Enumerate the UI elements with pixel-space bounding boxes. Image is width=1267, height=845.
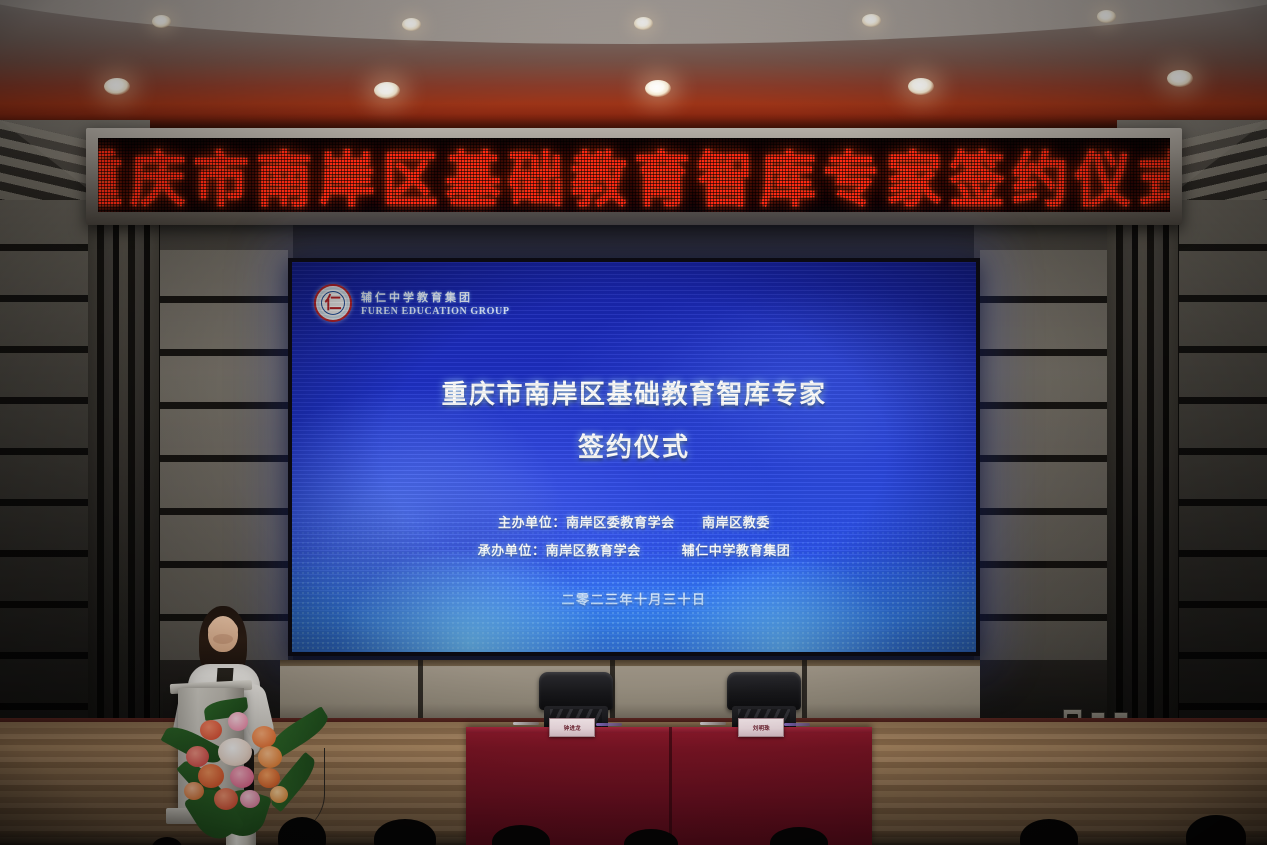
ceiling <box>0 0 1267 148</box>
nameplate-text: 钟进龙 <box>563 723 580 731</box>
under-screen-panel-band <box>280 660 980 722</box>
ceiling-downlight <box>634 17 653 30</box>
table-microphone <box>596 723 622 726</box>
presentation-slide: 仁 辅仁中学教育集团 FUREN EDUCATION GROUP 重庆市南岸区基… <box>292 262 976 652</box>
table-microphone <box>700 722 726 725</box>
speaker-face-shadow <box>213 634 233 644</box>
bouquet-flower <box>198 764 224 788</box>
slide-organizers: 主办单位：南岸区委教育学会 南岸区教委 承办单位：南岸区教育学会 辅仁中学教育集… <box>292 512 976 559</box>
slide-organizer-line: 承办单位：南岸区教育学会 辅仁中学教育集团 <box>478 540 791 559</box>
ceiling-downlight <box>374 82 400 99</box>
table-microphone <box>784 723 810 726</box>
led-banner-text: 重庆市南岸区基础教育智库专家签约仪式 <box>98 138 1170 212</box>
ceiling-downlight <box>1097 10 1116 23</box>
logo-name-cn: 辅仁中学教育集团 <box>361 289 510 305</box>
auditorium-scene: 重庆市南岸区基础教育智库专家签约仪式 仁 辅仁中学教育集团 FUREN EDUC… <box>0 0 1267 845</box>
ceiling-downlight <box>104 78 130 95</box>
logo-text-block: 辅仁中学教育集团 FUREN EDUCATION GROUP <box>361 289 510 317</box>
podium-group <box>150 598 340 845</box>
ceiling-downlight <box>152 15 171 28</box>
ceiling-downlight <box>862 14 881 27</box>
bouquet-flower <box>184 782 204 800</box>
bouquet-flower <box>200 720 222 740</box>
nameplate-text: 刘明珠 <box>752 723 769 731</box>
slide-title-line-1: 重庆市南岸区基础教育智库专家 <box>292 374 976 411</box>
slide-title-line-2: 签约仪式 <box>292 427 976 464</box>
ceiling-downlight <box>645 80 671 97</box>
chair-back <box>727 672 801 710</box>
led-banner-housing: 重庆市南岸区基础教育智库专家签约仪式 <box>86 128 1182 225</box>
head-table <box>466 727 872 845</box>
led-banner-screen: 重庆市南岸区基础教育智库专家签约仪式 <box>98 138 1170 212</box>
bouquet-flower <box>214 788 238 810</box>
panel-divider <box>802 660 807 722</box>
ceiling-downlight <box>402 18 421 31</box>
table-seam <box>669 727 672 845</box>
nameplate: 刘明珠 <box>738 718 784 737</box>
bouquet-flower <box>218 738 252 766</box>
slide-logo: 仁 辅仁中学教育集团 FUREN EDUCATION GROUP <box>314 284 510 322</box>
emblem-glyph: 仁 <box>325 295 342 312</box>
ceiling-downlight <box>1167 70 1193 87</box>
bouquet-flower <box>228 712 248 731</box>
bouquet-flower <box>258 768 280 788</box>
bouquet-flower <box>240 790 260 808</box>
panel-divider <box>418 660 423 722</box>
projection-screen: 仁 辅仁中学教育集团 FUREN EDUCATION GROUP 重庆市南岸区基… <box>288 258 980 656</box>
bouquet-flower <box>230 766 254 788</box>
ceiling-downlight <box>908 78 934 95</box>
logo-name-en: FUREN EDUCATION GROUP <box>361 306 510 317</box>
slide-body: 重庆市南岸区基础教育智库专家 签约仪式 主办单位：南岸区委教育学会 南岸区教委 … <box>292 374 976 608</box>
table-microphone <box>513 722 539 725</box>
chair-back <box>539 672 613 710</box>
slide-date: 二零二三年十月三十日 <box>292 589 976 608</box>
bouquet-flower <box>252 726 276 748</box>
school-emblem-icon: 仁 <box>314 284 352 322</box>
panel-band-top-trim <box>280 660 980 666</box>
nameplate: 钟进龙 <box>549 718 595 737</box>
slide-organizer-line: 主办单位：南岸区委教育学会 南岸区教委 <box>498 512 770 531</box>
